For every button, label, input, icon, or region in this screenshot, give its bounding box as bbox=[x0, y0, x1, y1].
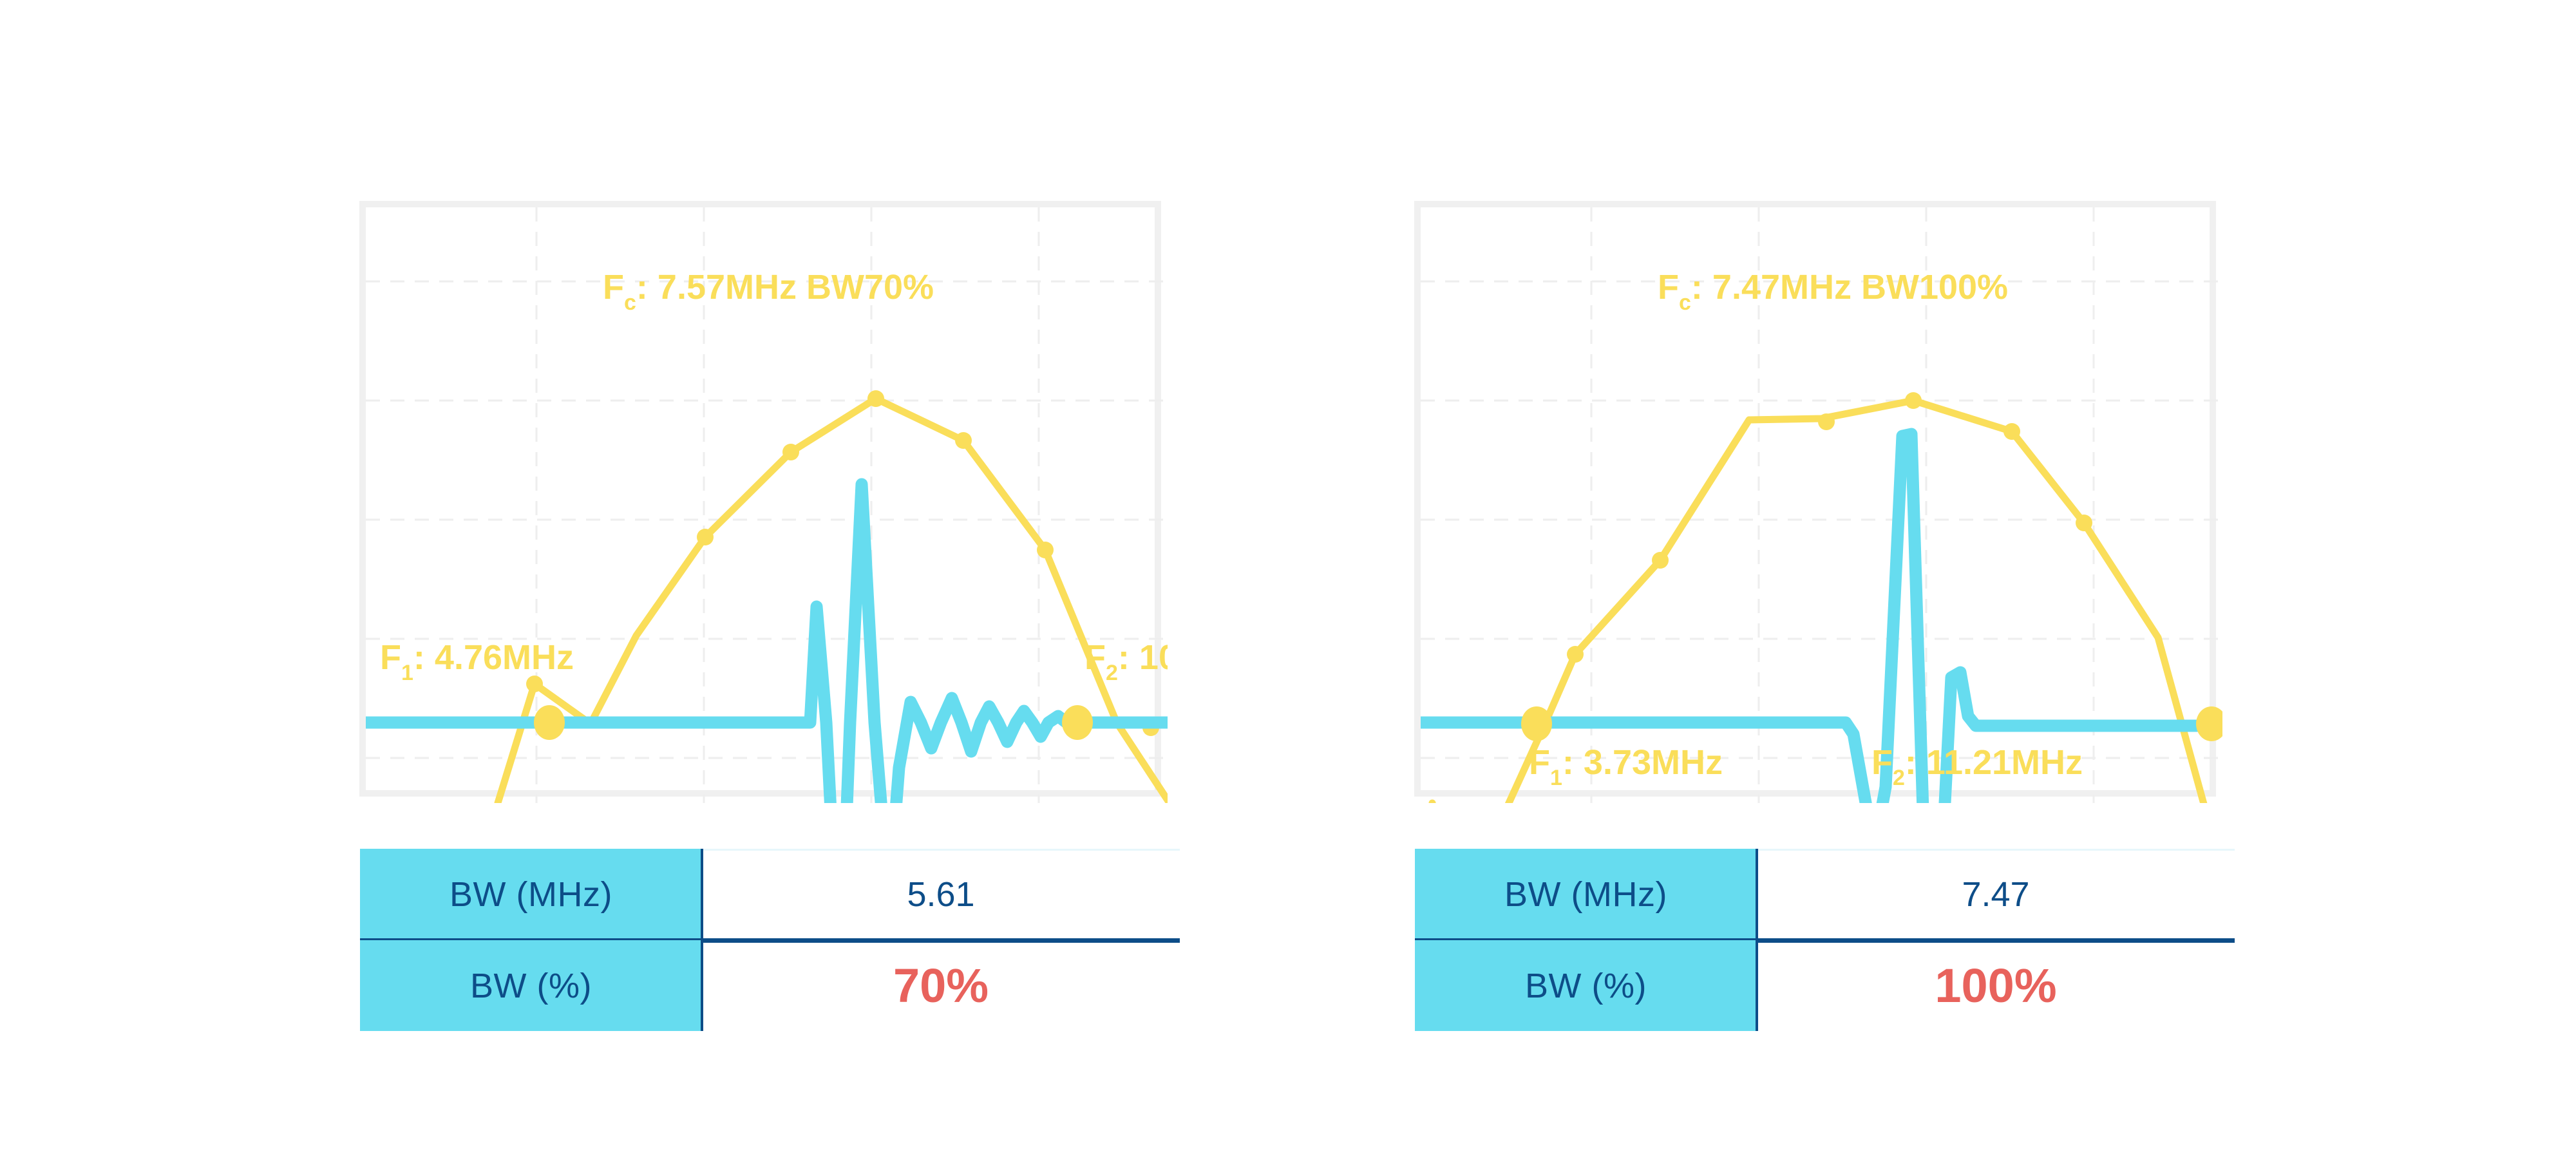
panel-bw100: Fc: 7.47MHz BW100% F1: 3.73MHz F2: 11.21… bbox=[1055, 0, 2278, 1154]
fc-subscript: c bbox=[1679, 290, 1691, 315]
f1-marker bbox=[534, 705, 565, 740]
f2-prefix: F bbox=[1871, 743, 1893, 782]
spectrum-markers bbox=[1464, 392, 2222, 803]
bw-mhz-label: BW (MHz) bbox=[1415, 849, 1757, 940]
f1-prefix: F bbox=[1529, 743, 1550, 782]
f1-marker bbox=[1521, 706, 1552, 741]
bw-mhz-label: BW (MHz) bbox=[360, 849, 702, 940]
table-row: BW (%) 100% bbox=[1415, 940, 2235, 1031]
f1-annotation: F1: 4.76MHz bbox=[380, 638, 574, 685]
table-row: BW (MHz) 7.47 bbox=[1415, 849, 2235, 940]
f2-annotation: F2: 11.21MHz bbox=[1871, 743, 2083, 790]
f1-subscript: 1 bbox=[401, 661, 413, 685]
f1-prefix: F bbox=[380, 638, 401, 677]
fc-annotation: Fc: 7.57MHz BW70% bbox=[603, 268, 934, 315]
spectrum-curve bbox=[1432, 401, 2222, 803]
fc-subscript: c bbox=[624, 290, 636, 315]
bw-percent-value: 100% bbox=[1757, 940, 2235, 1031]
fc-text: : 7.57MHz BW70% bbox=[636, 268, 934, 307]
panel-bw70: Fc: 7.57MHz BW70% F1: 4.76MHz F2: 10.37M… bbox=[0, 0, 1224, 1154]
plot-frame-bw100: Fc: 7.47MHz BW100% F1: 3.73MHz F2: 11.21… bbox=[1414, 201, 2216, 797]
table-column-divider bbox=[701, 849, 703, 1031]
f1-text: : 4.76MHz bbox=[413, 638, 574, 677]
f2-marker bbox=[2196, 706, 2222, 741]
f2-text: : 11.21MHz bbox=[1905, 743, 2083, 782]
fc-text: : 7.47MHz BW100% bbox=[1691, 268, 2008, 307]
table-column-divider bbox=[1756, 849, 1758, 1031]
bw-mhz-value: 7.47 bbox=[1757, 849, 2235, 940]
fc-prefix: F bbox=[603, 268, 624, 307]
fc-annotation: Fc: 7.47MHz BW100% bbox=[1658, 268, 2008, 315]
f1-text: : 3.73MHz bbox=[1562, 743, 1723, 782]
bw-percent-label: BW (%) bbox=[360, 940, 702, 1031]
fc-prefix: F bbox=[1658, 268, 1679, 307]
spectrum-plot-bw100: Fc: 7.47MHz BW100% F1: 3.73MHz F2: 11.21… bbox=[1421, 207, 2222, 803]
f1-annotation: F1: 3.73MHz bbox=[1529, 743, 1723, 790]
spectrum-plot-bw70: Fc: 7.57MHz BW70% F1: 4.76MHz F2: 10.37M… bbox=[366, 207, 1168, 803]
bw-percent-label: BW (%) bbox=[1415, 940, 1757, 1031]
f1-subscript: 1 bbox=[1550, 766, 1562, 790]
f2-subscript: 2 bbox=[1893, 766, 1905, 790]
plot-frame-bw70: Fc: 7.57MHz BW70% F1: 4.76MHz F2: 10.37M… bbox=[359, 201, 1161, 797]
charts-container: Fc: 7.57MHz BW70% F1: 4.76MHz F2: 10.37M… bbox=[0, 0, 2576, 1154]
bw-table-bw100: BW (MHz) 7.47 BW (%) 100% bbox=[1415, 849, 2235, 1031]
